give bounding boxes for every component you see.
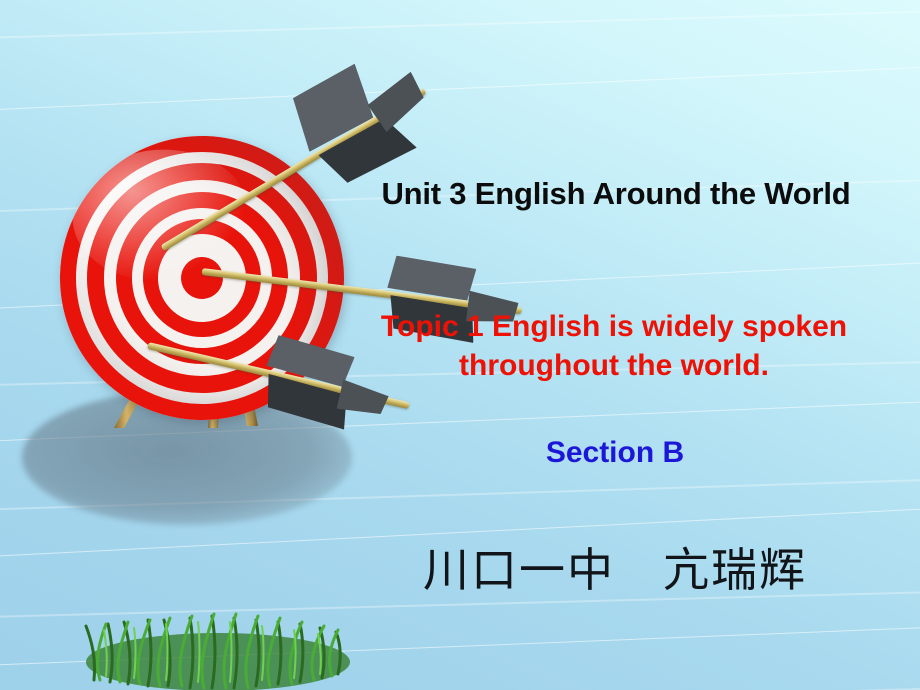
slide-section-label: Section B: [330, 436, 900, 470]
grass-tuft-icon: [70, 576, 360, 690]
background-streak-2: [0, 8, 920, 41]
slide-credit: 川口一中 亢瑞辉: [330, 534, 900, 600]
background-streak-3: [0, 63, 920, 114]
slide-title: Unit 3 English Around the World: [328, 176, 904, 212]
archery-target-graphic: [52, 128, 352, 428]
slide-topic: Topic 1 English is widely spoken through…: [324, 307, 904, 385]
presentation-slide: Unit 3 English Around the World Topic 1 …: [0, 0, 920, 690]
slide-topic-line-1: Topic 1 English is widely spoken: [324, 307, 904, 346]
slide-topic-line-2: throughout the world.: [324, 346, 904, 385]
